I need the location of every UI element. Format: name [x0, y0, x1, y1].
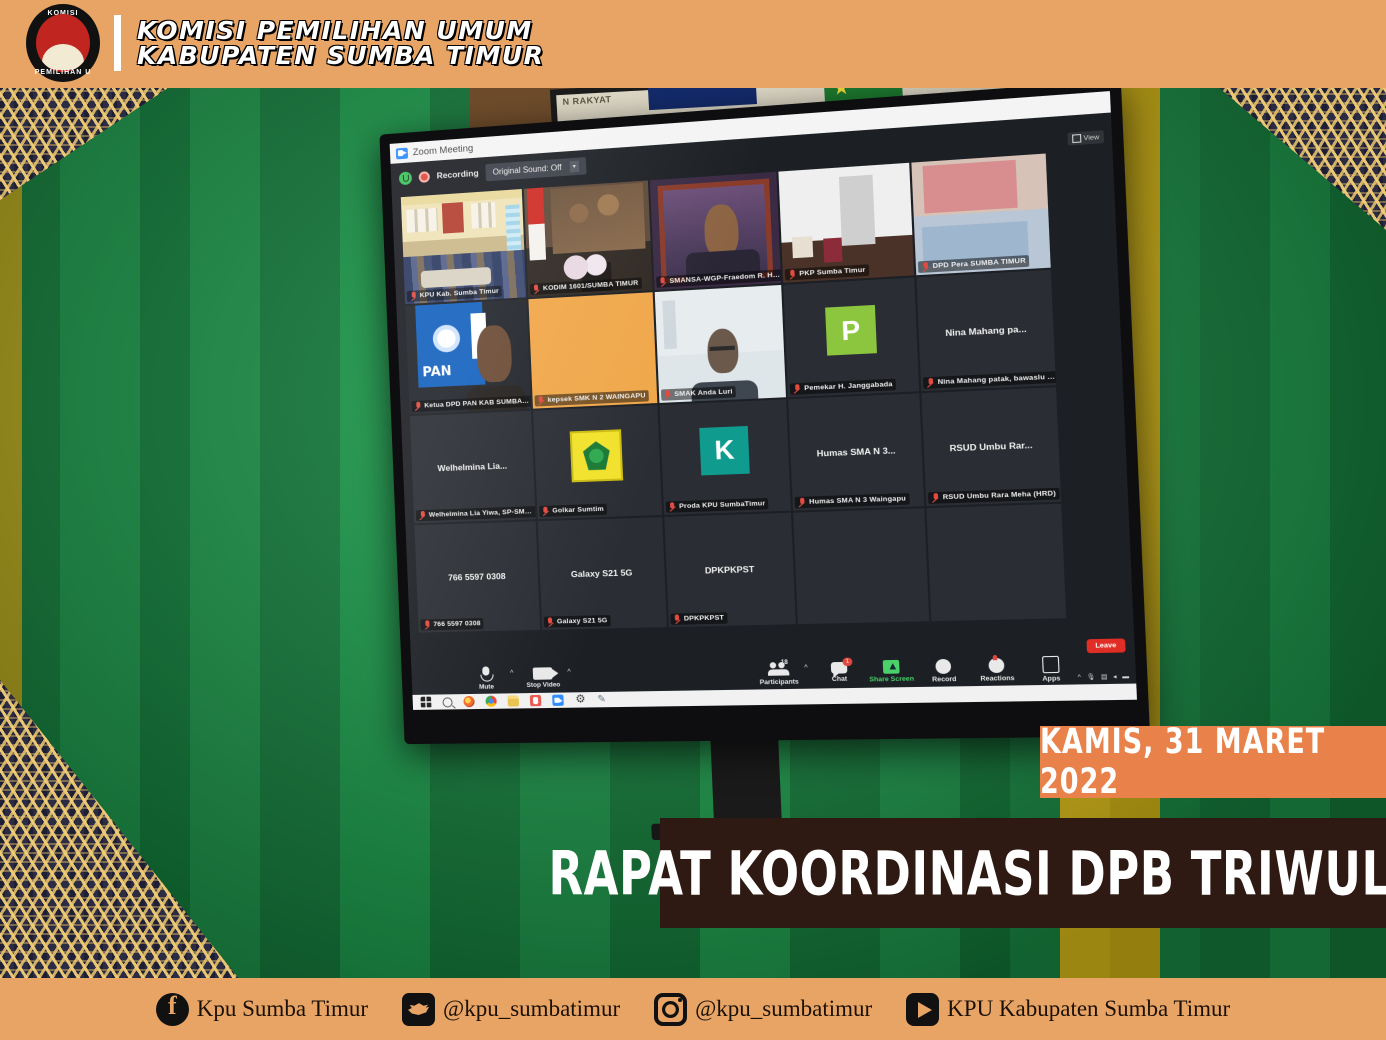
participant-grid: KPU Kab. Sumba TimurKODIM 1601/SUMBA TIM… [401, 154, 1066, 633]
participant-nameplate: 766 5597 0308 [420, 618, 484, 631]
encryption-shield-icon[interactable] [399, 171, 412, 185]
participant-name-label: kepsek SMK N 2 WAINGAPU [548, 392, 646, 404]
participant-nameplate: Proda KPU SumbaTimur [665, 498, 769, 513]
participant-tile[interactable]: SMANSA-WGP-Fraedom R. Hara [650, 172, 782, 291]
microphone-icon[interactable] [477, 666, 495, 681]
participant-tile[interactable]: KODIM 1601/SUMBA TIMUR [524, 180, 653, 297]
participant-display-name: Galaxy S21 5G [537, 517, 666, 630]
toolbar-button-apps[interactable]: Apps [1023, 655, 1078, 683]
participant-name-label: Humas SMA N 3 Waingapu [809, 495, 906, 506]
tray-clock: ▬ [1122, 673, 1129, 680]
toolbar-button-label: Mute [479, 684, 494, 691]
muted-microphone-icon [921, 262, 929, 272]
org-title-line2: KABUPATEN SUMBA TIMUR [137, 43, 544, 68]
muted-microphone-icon [547, 617, 555, 626]
participants-count: 18 [781, 659, 788, 665]
social-handle: KPU Kabupaten Sumba Timur [947, 996, 1230, 1022]
participant-tile[interactable]: Galaxy S21 5GGalaxy S21 5G [537, 517, 666, 630]
file-explorer-icon[interactable] [508, 695, 520, 706]
muted-microphone-icon [926, 377, 934, 387]
social-handle: @kpu_sumbatimur [695, 996, 872, 1022]
chat-unread-badge: 1 [843, 658, 853, 667]
participant-tile[interactable]: Golkar Sumtim [533, 405, 662, 519]
participant-nameplate: Pemekar H. Janggabada [790, 378, 896, 394]
participant-avatar: K [699, 426, 750, 475]
participant-tile[interactable]: 766 5597 0308766 5597 0308 [414, 521, 540, 633]
participant-tile[interactable]: Nina Mahang pa...Nina Mahang patak, bawa… [917, 270, 1056, 391]
org-title: KOMISI PEMILIHAN UMUM KABUPATEN SUMBA TI… [137, 18, 544, 68]
participant-avatar-logo [570, 429, 624, 482]
board-label-0: N RAKYAT [562, 94, 611, 107]
toolbar-button-participants[interactable]: 18Participants [753, 661, 805, 686]
settings-gear-icon[interactable]: ⚙ [575, 694, 587, 705]
view-button[interactable]: View [1067, 130, 1104, 145]
toolbar-button-share-screen[interactable]: Share Screen [865, 660, 918, 684]
chrome-icon[interactable] [485, 696, 497, 707]
toolbar-button-label: Apps [1042, 675, 1060, 683]
toolbar-button-label: Participants [759, 678, 798, 686]
facebook-icon[interactable] [156, 993, 189, 1026]
kpu-emblem-icon: KOMISI PEMILIHAN U [28, 6, 98, 80]
twitter-icon[interactable] [402, 993, 435, 1026]
toolbar-caret-icon[interactable]: ^ [804, 664, 808, 671]
apps-icon[interactable] [1042, 655, 1060, 672]
title-banner-text: RAPAT KOORDINASI DPB TRIWULAN I [548, 837, 1386, 909]
share-screen-icon[interactable] [883, 660, 900, 674]
toolbar-button-mute[interactable]: Mute [462, 666, 511, 691]
participant-nameplate: Galaxy S21 5G [544, 615, 611, 628]
zoom-window-title: Zoom Meeting [413, 142, 474, 157]
participant-name-label: Proda KPU SumbaTimur [679, 500, 766, 510]
date-banner: KAMIS, 31 MARET 2022 [1040, 726, 1386, 798]
participant-name-label: PKP Sumba Timur [799, 267, 865, 278]
toolbar-button-label: Share Screen [869, 675, 914, 683]
original-sound-button[interactable]: Original Sound: Off ▾ [485, 157, 586, 181]
muted-microphone-icon [931, 493, 939, 503]
muted-microphone-icon [793, 384, 801, 394]
muted-microphone-icon [788, 270, 796, 280]
toolbar-button-label: Reactions [980, 674, 1014, 682]
participant-tile[interactable]: PKP Sumba Timur [779, 163, 914, 283]
participant-tile[interactable]: DPKPKPSTDPKPKPST [664, 512, 796, 627]
participant-nameplate: DPKPKPST [670, 612, 727, 625]
participant-avatar: P [825, 305, 877, 356]
muted-microphone-icon [419, 511, 426, 520]
participant-name-label: RSUD Umbu Rara Meha (HRD) [943, 490, 1057, 501]
participant-tile[interactable]: DPD Pera SUMBA TIMUR [912, 154, 1051, 276]
zoom-icon[interactable] [552, 695, 564, 706]
tray-volume-icon[interactable]: ◂ [1113, 673, 1117, 681]
participant-tile[interactable]: RSUD Umbu Rar...RSUD Umbu Rara Meha (HRD… [922, 387, 1061, 506]
chevron-down-icon[interactable]: ▾ [569, 160, 579, 172]
social-link-ig[interactable]: @kpu_sumbatimur [654, 993, 872, 1026]
muted-microphone-icon [423, 620, 430, 629]
muted-microphone-icon [542, 506, 550, 515]
social-handle: Kpu Sumba Timur [197, 996, 368, 1022]
tray-mic-icon[interactable]: 🎙 [1086, 673, 1095, 681]
record-icon[interactable] [936, 658, 952, 673]
participants-icon[interactable]: 18 [768, 661, 790, 676]
participant-video [654, 285, 786, 402]
title-banner: RAPAT KOORDINASI DPB TRIWULAN I [660, 818, 1386, 928]
view-button-label: View [1083, 133, 1099, 142]
television: Zoom Meeting Recording Original Sound: O… [379, 88, 1150, 744]
toolbar-button-chat[interactable]: 1Chat [813, 662, 866, 684]
chat-icon[interactable]: 1 [831, 662, 848, 674]
toolbar-caret-icon[interactable]: ^ [510, 670, 514, 677]
search-icon[interactable] [442, 697, 452, 707]
participant-name-label: SMAK Anda Luri [674, 388, 733, 398]
participant-tile[interactable]: Humas SMA N 3...Humas SMA N 3 Waingapu [789, 393, 925, 511]
participant-name-label: Welhelmina Lia Yiwa, SP-SMA PGRI ... [429, 508, 536, 519]
muted-microphone-icon [533, 285, 540, 295]
muted-microphone-icon [798, 497, 806, 507]
toolbar-button-reactions[interactable]: Reactions [970, 657, 1025, 682]
kpu-branding: KOMISI PEMILIHAN U KOMISI PEMILIHAN UMUM… [28, 6, 544, 80]
muted-microphone-icon [537, 395, 544, 404]
participant-tile[interactable]: KPU Kab. Sumba Timur [401, 189, 526, 304]
social-link-fb[interactable]: Kpu Sumba Timur [156, 993, 368, 1026]
system-tray: ^ 🎙 ▤ ◂ ▬ [1078, 673, 1130, 681]
camera-icon[interactable] [533, 667, 553, 680]
zoom-app-icon [396, 147, 408, 159]
participant-name-label: Pemekar H. Janggabada [804, 380, 893, 391]
misc-icon[interactable]: ✎ [597, 694, 609, 705]
participant-name-label: DPKPKPST [684, 614, 724, 622]
participant-display-name: 766 5597 0308 [414, 521, 540, 633]
participant-tile[interactable]: PANKetua DPD PAN KAB SUMBA TIMUR [405, 300, 530, 414]
tv-bezel: Zoom Meeting Recording Original Sound: O… [379, 88, 1150, 744]
recording-indicator-icon[interactable] [419, 171, 430, 183]
muted-microphone-icon [664, 390, 672, 400]
windows-start-icon[interactable] [420, 697, 431, 708]
muted-microphone-icon [673, 614, 681, 623]
youtube-icon[interactable] [906, 993, 939, 1026]
participant-name-label: Golkar Sumtim [552, 505, 604, 514]
tv-screen: Zoom Meeting Recording Original Sound: O… [390, 91, 1137, 710]
toolbar-spacer [576, 674, 753, 677]
logo-divider [114, 15, 121, 71]
toolbar-button-label: Record [932, 675, 957, 683]
participant-display-name: DPKPKPST [664, 512, 796, 627]
muted-microphone-icon [659, 277, 667, 287]
grid-view-icon [1072, 134, 1081, 143]
toolbar-button-stop-video[interactable]: Stop Video [518, 666, 568, 688]
social-footer: Kpu Sumba Timur@kpu_sumbatimur@kpu_sumba… [0, 978, 1386, 1040]
participant-tile[interactable]: Welhelmina Lia...Welhelmina Lia Yiwa, SP… [410, 410, 536, 523]
recording-label: Recording [436, 168, 478, 181]
instagram-icon[interactable] [654, 993, 687, 1026]
muted-microphone-icon [414, 401, 421, 410]
social-link-tw[interactable]: @kpu_sumbatimur [402, 993, 620, 1026]
participant-nameplate: Golkar Sumtim [539, 503, 607, 517]
participant-name-label: 766 5597 0308 [433, 620, 481, 628]
social-link-yt[interactable]: KPU Kabupaten Sumba Timur [906, 993, 1230, 1026]
original-sound-label: Original Sound: Off [493, 162, 562, 176]
emblem-bottom-text: PEMILIHAN U [28, 69, 98, 76]
app-icon[interactable] [530, 695, 542, 706]
participant-tile[interactable]: SMAK Anda Luri [654, 285, 786, 402]
emblem-garuda-icon [36, 14, 90, 72]
participant-tile[interactable]: PPemekar H. Janggabada [784, 278, 920, 397]
participant-tile[interactable] [794, 508, 930, 624]
participant-tile[interactable]: KProda KPU SumbaTimur [659, 399, 791, 515]
poster-root: ★ N RAKYAT PARTAI DEMOKRAT BINTANG PARTA… [0, 0, 1386, 1040]
social-handle: @kpu_sumbatimur [443, 996, 620, 1022]
participant-name-label: Galaxy S21 5G [557, 617, 608, 625]
firefox-icon[interactable] [463, 696, 474, 707]
tray-network-icon[interactable]: ▤ [1101, 673, 1108, 681]
muted-microphone-icon [668, 502, 676, 512]
participant-tile[interactable]: kepsek SMK N 2 WAINGAPU [528, 292, 657, 408]
toolbar-button-record[interactable]: Record [917, 658, 971, 683]
reactions-icon[interactable] [989, 657, 1005, 672]
tray-caret-icon[interactable]: ^ [1078, 674, 1081, 680]
toolbar-button-label: Stop Video [526, 681, 560, 689]
org-title-line1: KOMISI PEMILIHAN UMUM [137, 18, 544, 43]
muted-microphone-icon [410, 292, 417, 301]
toolbar-caret-icon[interactable]: ^ [567, 668, 571, 675]
date-banner-text: KAMIS, 31 MARET 2022 [1040, 722, 1386, 803]
participant-tile[interactable] [927, 503, 1067, 621]
